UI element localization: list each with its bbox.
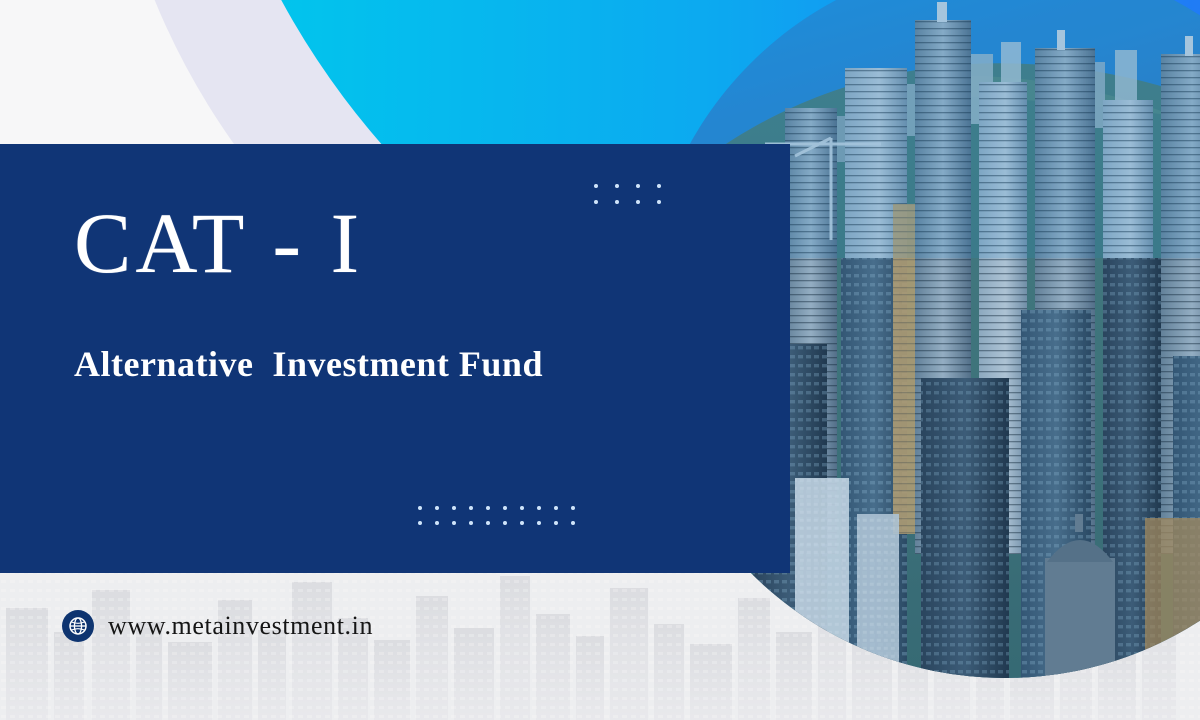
dot bbox=[452, 521, 456, 525]
dot bbox=[615, 184, 619, 188]
dot bbox=[418, 521, 422, 525]
dot bbox=[594, 184, 598, 188]
dot bbox=[503, 506, 507, 510]
dot bbox=[636, 200, 640, 204]
dot bbox=[469, 506, 473, 510]
dot bbox=[657, 184, 661, 188]
dot bbox=[435, 521, 439, 525]
dot bbox=[636, 184, 640, 188]
globe-icon bbox=[62, 610, 94, 642]
dot bbox=[571, 506, 575, 510]
dot bbox=[537, 521, 541, 525]
dot-grid-lower bbox=[418, 506, 575, 525]
dot bbox=[520, 521, 524, 525]
dot-grid-upper bbox=[594, 184, 661, 204]
dot bbox=[537, 506, 541, 510]
dot bbox=[418, 506, 422, 510]
dot bbox=[657, 200, 661, 204]
website-row[interactable]: www.metainvestment.in bbox=[62, 610, 373, 642]
promotional-banner: CAT - I Alternative Investment Fund bbox=[0, 0, 1200, 720]
dot bbox=[435, 506, 439, 510]
dot bbox=[469, 521, 473, 525]
dot bbox=[571, 521, 575, 525]
page-title: CAT - I bbox=[74, 200, 363, 286]
dot bbox=[503, 521, 507, 525]
dot bbox=[486, 506, 490, 510]
dot bbox=[452, 506, 456, 510]
website-url[interactable]: www.metainvestment.in bbox=[108, 611, 373, 641]
dot bbox=[615, 200, 619, 204]
globe-icon-glyph bbox=[68, 616, 88, 636]
dot bbox=[486, 521, 490, 525]
page-subtitle: Alternative Investment Fund bbox=[74, 345, 543, 385]
dot bbox=[594, 200, 598, 204]
dot bbox=[520, 506, 524, 510]
dot bbox=[554, 521, 558, 525]
dot bbox=[554, 506, 558, 510]
